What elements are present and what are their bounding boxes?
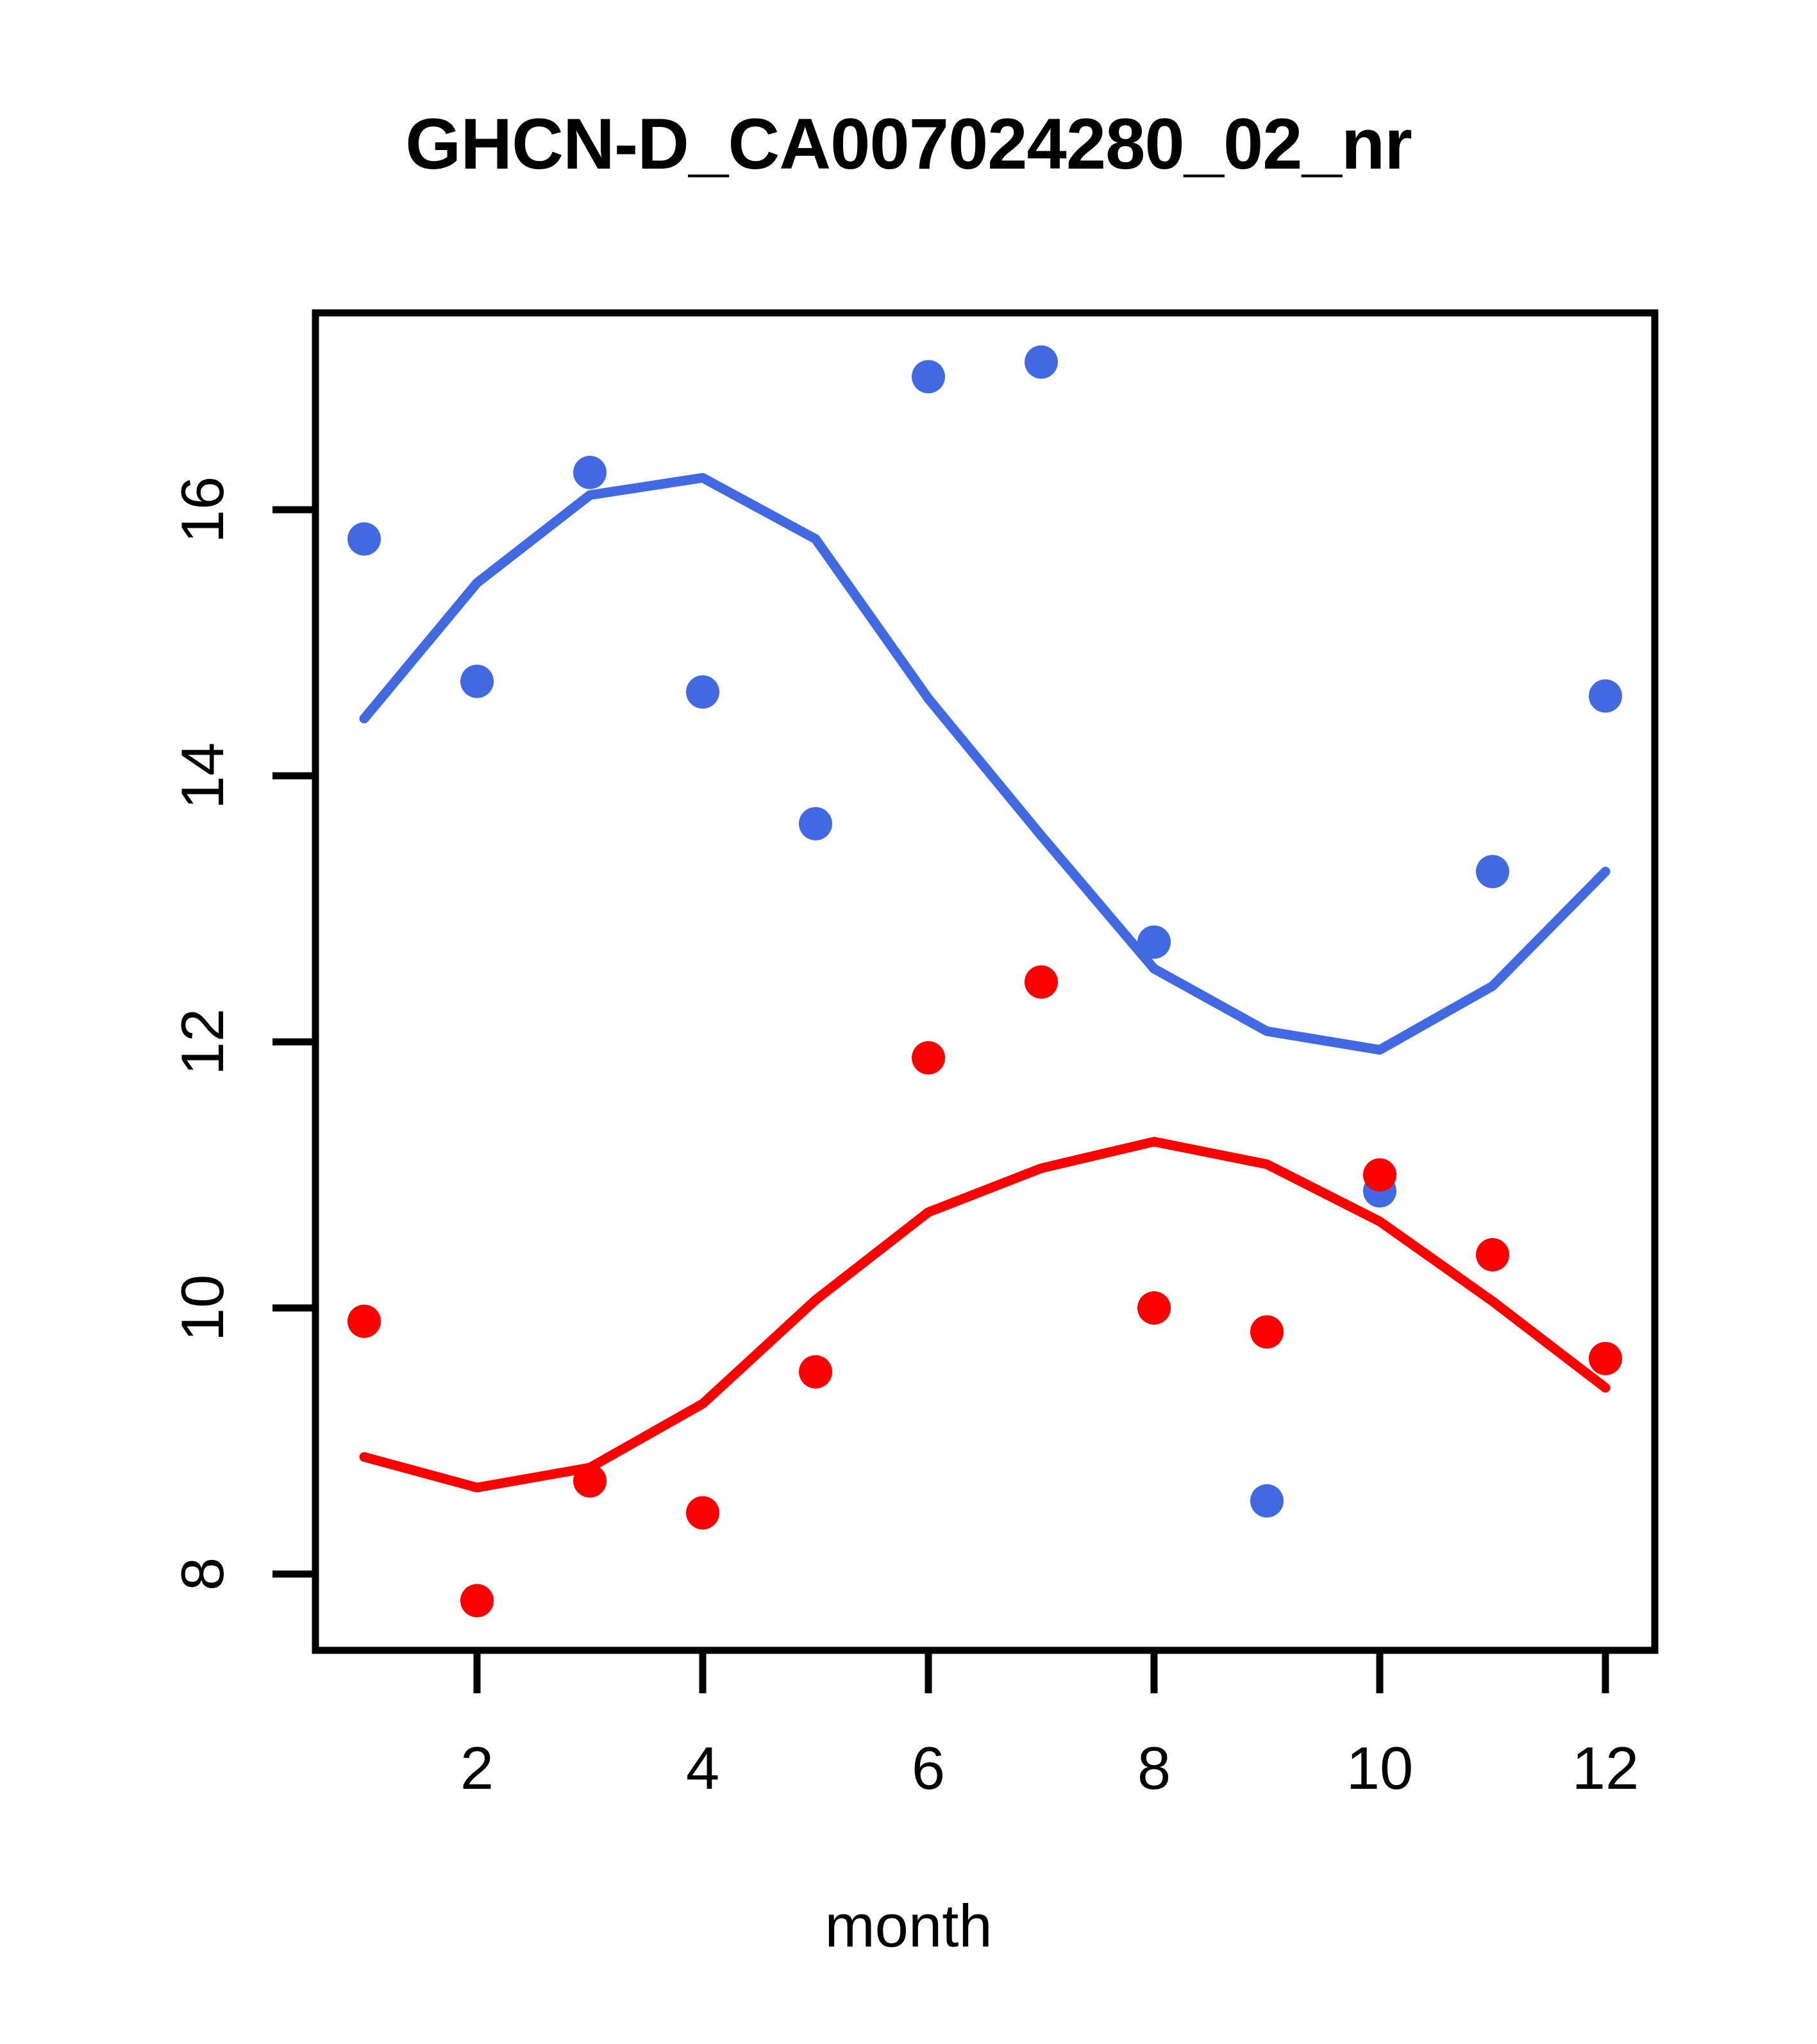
blue-points: [347, 346, 1622, 1518]
x-axis-label: month: [0, 1891, 1817, 1961]
data-point: [912, 360, 945, 394]
scatter-plot: 16 14 12 10 8 2 4 6 8 10 12: [0, 0, 1817, 2044]
y-tick-label-10: 10: [169, 1275, 236, 1342]
chart-page: GHCN-D_CA007024280_02_nr 16 14 12 10 8: [0, 0, 1817, 2044]
data-point: [347, 523, 381, 556]
data-point: [1250, 1484, 1284, 1518]
data-point: [1476, 1238, 1509, 1271]
data-point: [1589, 1342, 1622, 1375]
x-tick-label-10: 10: [1346, 1734, 1414, 1802]
data-point: [686, 675, 719, 708]
data-point: [799, 1355, 832, 1389]
y-axis-tick-labels: 16 14 12 10 8: [169, 476, 236, 1591]
data-point: [1025, 966, 1058, 999]
x-tick-label-2: 2: [460, 1734, 494, 1802]
x-axis-ticks: [477, 1650, 1605, 1693]
x-tick-label-6: 6: [912, 1734, 945, 1802]
data-point: [912, 1041, 945, 1075]
y-tick-label-8: 8: [169, 1557, 236, 1591]
y-axis-ticks: [272, 510, 315, 1574]
data-point: [799, 807, 832, 841]
data-point: [1476, 855, 1509, 888]
data-point: [460, 665, 494, 698]
data-point: [686, 1496, 719, 1530]
data-point: [1589, 680, 1622, 713]
data-point: [1250, 1315, 1284, 1348]
data-point: [1025, 346, 1058, 379]
plot-frame: [315, 313, 1655, 1650]
data-point: [460, 1584, 494, 1618]
data-point: [1137, 1291, 1171, 1325]
x-tick-label-4: 4: [686, 1734, 719, 1802]
blue-smooth-line-path: [364, 478, 1605, 1050]
red-points: [347, 966, 1622, 1618]
x-tick-label-8: 8: [1137, 1734, 1171, 1802]
x-tick-label-12: 12: [1572, 1734, 1639, 1802]
red-smooth-line-path: [364, 1142, 1605, 1488]
x-axis-tick-labels: 2 4 6 8 10 12: [460, 1734, 1639, 1802]
data-point: [573, 456, 607, 489]
data-point: [1363, 1159, 1396, 1192]
blue-smooth-line: [364, 478, 1605, 1050]
red-smooth-line: [364, 1142, 1605, 1488]
data-series-layer: [347, 346, 1622, 1618]
y-tick-label-12: 12: [169, 1009, 236, 1076]
data-point: [347, 1305, 381, 1338]
y-tick-label-16: 16: [169, 476, 236, 544]
y-tick-label-14: 14: [169, 742, 236, 810]
